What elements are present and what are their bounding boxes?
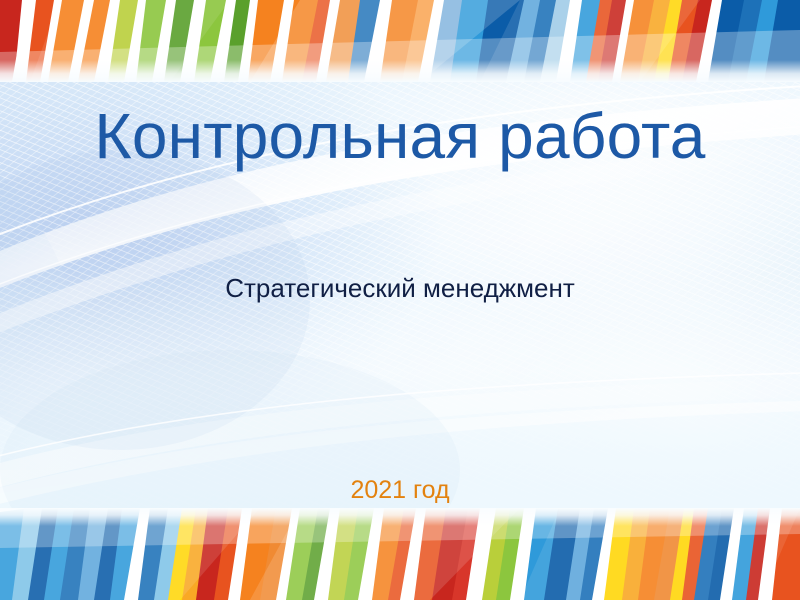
slide-year: 2021 год [0, 476, 800, 505]
slide-subtitle: Стратегический менеджмент [0, 274, 800, 304]
bottom-band-shards [0, 508, 800, 600]
top-band-shards [0, 0, 800, 82]
top-decorative-band [0, 0, 800, 82]
slide-title: Контрольная работа [0, 104, 800, 168]
bottom-decorative-band [0, 508, 800, 600]
presentation-slide: Контрольная работа Стратегический менедж… [0, 0, 800, 600]
